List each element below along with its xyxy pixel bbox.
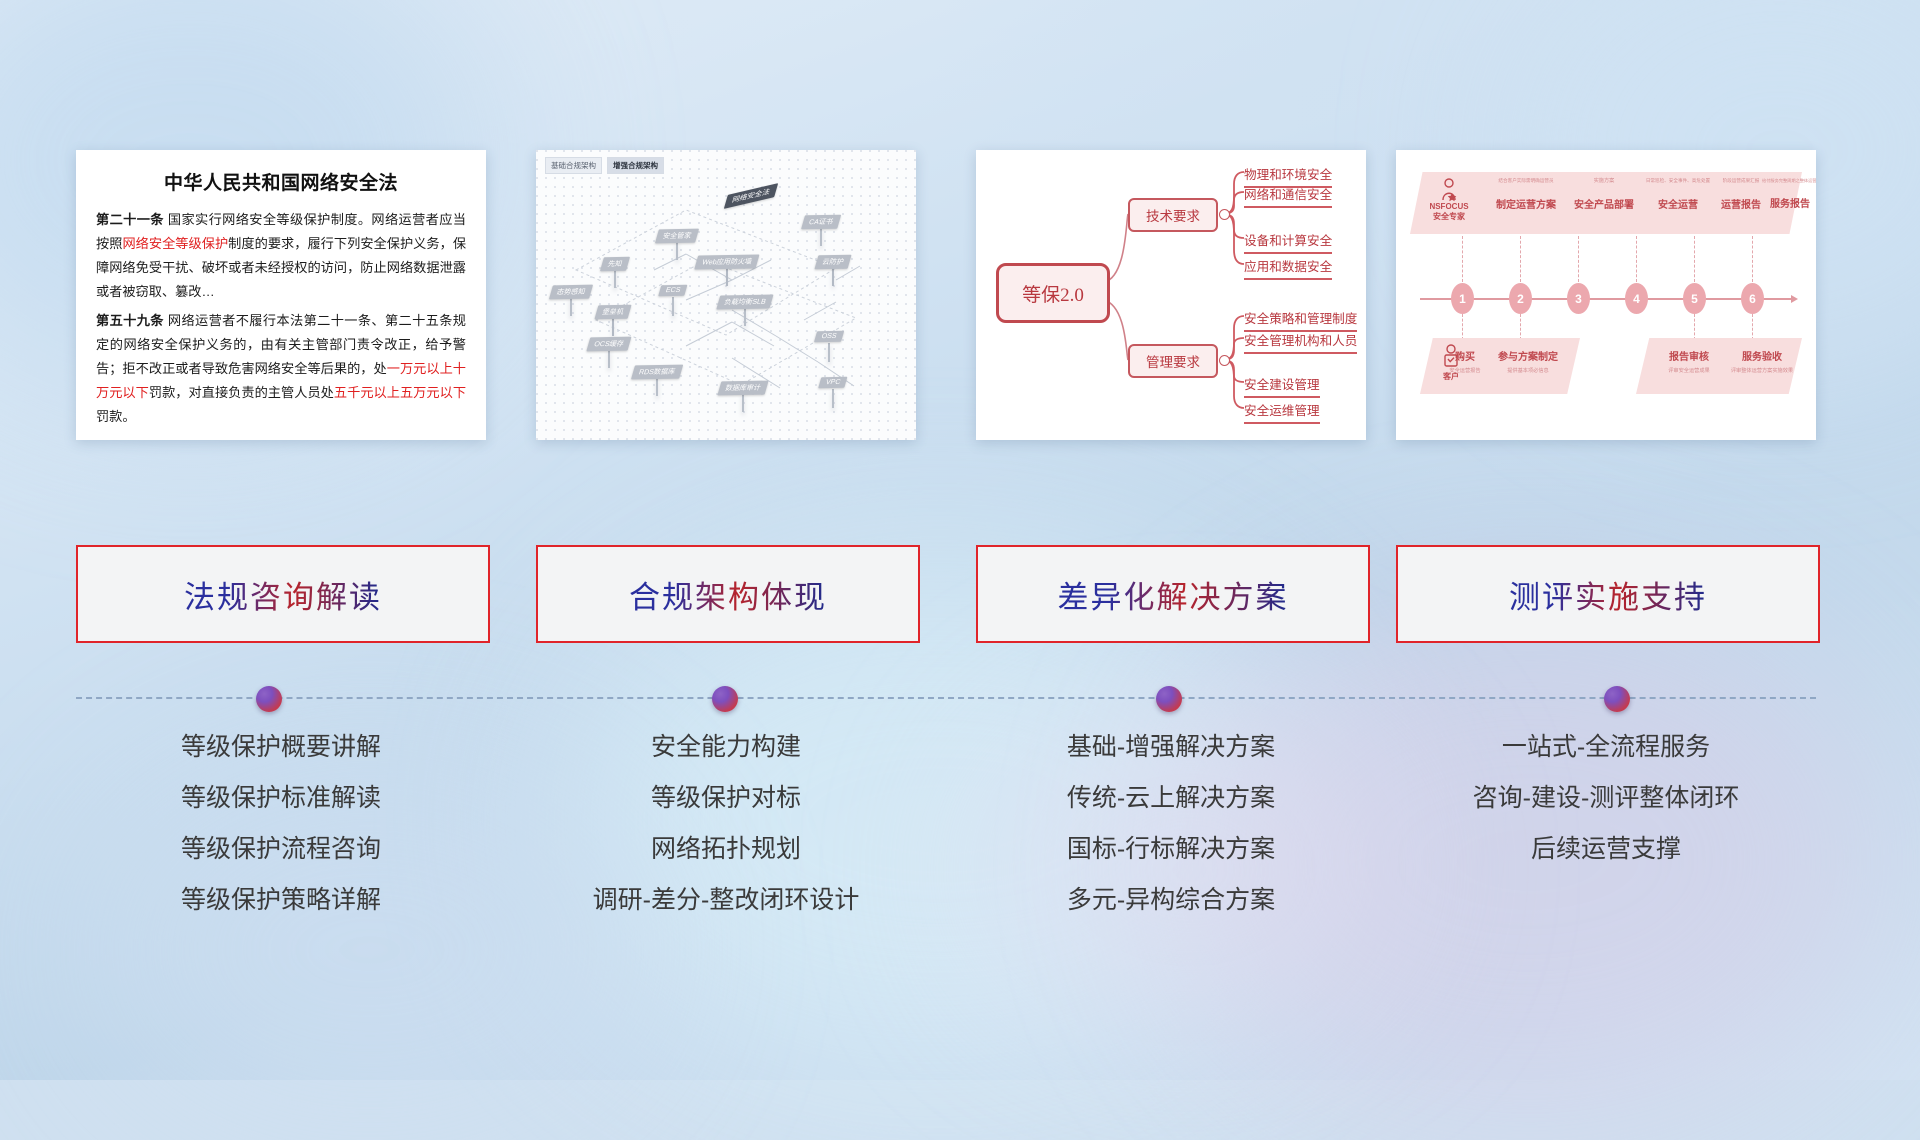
node-shape	[676, 241, 678, 260]
law-article-59-text-b: 罚款，对直接负责的主管人员处	[149, 385, 334, 400]
timeline-step-title: 参与方案制定	[1488, 348, 1568, 363]
section-items-2: 安全能力构建 等级保护对标 网络拓扑规划 调研-差分-整改闭环设计	[536, 735, 916, 939]
section-items-row: 等级保护概要讲解 等级保护标准解读 等级保护流程咨询 等级保护策略详解 安全能力…	[0, 735, 1920, 975]
node-label: 云防护	[814, 255, 851, 270]
node-shape	[832, 389, 834, 408]
node-shape	[726, 267, 728, 286]
timeline-step-sub: 评审整体运营方案实施效果	[1722, 367, 1802, 374]
mindmap-leaf: 安全策略和管理制度	[1244, 308, 1357, 332]
timeline-step-title: 服务报告	[1762, 195, 1816, 210]
mindmap-collapse-dot[interactable]	[1219, 355, 1230, 366]
timeline-top-step: 结合客户实际需明确运营员 制定运营方案	[1488, 178, 1564, 211]
list-item: 等级保护策略详解	[76, 888, 486, 913]
list-item: 调研-差分-整改闭环设计	[536, 888, 916, 913]
law-article-59-text-c: 罚款。	[96, 409, 136, 424]
mindmap-leaf: 安全管理机构和人员	[1244, 330, 1357, 354]
timeline-bottom-step: 报告审核 评审安全运营成果	[1654, 348, 1724, 374]
node-situational-awareness: 态势感知	[570, 298, 572, 316]
timeline-top-step: 给付服务完整周期之整体运营成果 服务报告	[1762, 178, 1816, 210]
timeline-top-step: 日常巡检、安全事件、高危处置 安全运营	[1640, 178, 1716, 211]
node-label: RDS数据库	[631, 365, 683, 380]
card-architecture-diagram: 基础合规架构 增强合规架构	[536, 150, 916, 440]
list-item: 咨询-建设-测评整体闭环	[1396, 786, 1816, 811]
timeline-step-title: 报告审核	[1654, 348, 1724, 363]
law-title: 中华人民共和国网络安全法	[96, 168, 466, 195]
mindmap-leaf: 安全运维管理	[1244, 400, 1320, 424]
node-label: 数据库审计	[717, 381, 768, 396]
security-expert-icon	[1438, 178, 1460, 202]
law-article-59-highlight-b: 五千元以上五万元以下	[334, 385, 466, 400]
section-title-row: 法规咨询解读 合规架构体现 差异化解决方案 测评实施支持	[0, 545, 1920, 645]
section-title-box-3[interactable]: 差异化解决方案	[976, 545, 1370, 643]
timeline-bottom-step: 购买 安全运营报告	[1442, 348, 1488, 374]
timeline-marker-3[interactable]	[1156, 686, 1182, 712]
list-item: 后续运营支撑	[1396, 837, 1816, 862]
node-label: 态势感知	[549, 285, 593, 300]
section-title-box-2[interactable]: 合规架构体现	[536, 545, 920, 643]
node-shape	[828, 343, 830, 362]
timeline-step-title: 购买	[1442, 348, 1488, 363]
timeline-step-number: 2	[1509, 283, 1532, 314]
timeline-expert-role: NSFOCUS 安全专家	[1420, 178, 1478, 222]
section-title-text: 差异化解决方案	[1058, 572, 1289, 617]
node-shape	[570, 297, 572, 316]
tab-basic-compliance[interactable]: 基础合规架构	[545, 157, 602, 174]
timeline-dashed-axis	[76, 697, 1816, 701]
node-ocs-cache: OCS缓存	[608, 350, 610, 368]
timeline-step-number: 3	[1567, 283, 1590, 314]
timeline-bottom-step: 参与方案制定 提供基本项必信息	[1488, 348, 1568, 374]
node-label: ECS	[658, 285, 688, 296]
list-item: 国标-行标解决方案	[976, 837, 1366, 862]
node-label: 安全管家	[655, 229, 699, 244]
architecture-tab-list: 基础合规架构 增强合规架构	[545, 157, 664, 174]
timeline-marker-1[interactable]	[256, 686, 282, 712]
node-shape	[744, 307, 746, 326]
node-load-balancer-slb: 负载均衡SLB	[744, 308, 746, 326]
timeline-step-title: 安全运营	[1640, 196, 1716, 211]
law-article-21-label: 第二十一条	[96, 212, 164, 227]
list-item: 传统-云上解决方案	[976, 786, 1366, 811]
card-mindmap: 等保2.0 技术要求 物理和环境安全 网络和通信安全 设备和计算安全 应用和数据…	[976, 150, 1366, 440]
mindmap-branch-management[interactable]: 管理要求	[1128, 344, 1218, 378]
list-item: 网络拓扑规划	[536, 837, 916, 862]
section-items-3: 基础-增强解决方案 传统-云上解决方案 国标-行标解决方案 多元-异构综合方案	[976, 735, 1366, 939]
section-items-4: 一站式-全流程服务 咨询-建设-测评整体闭环 后续运营支撑	[1396, 735, 1816, 888]
node-ca-certificate: CA证书	[820, 228, 822, 246]
section-title-box-1[interactable]: 法规咨询解读	[76, 545, 490, 643]
node-xianzhi: 先知	[614, 270, 616, 288]
node-shape	[612, 317, 614, 336]
timeline-connector	[1694, 236, 1696, 282]
timeline-step-sub: 日常巡检、安全事件、高危处置	[1640, 178, 1716, 184]
timeline-step-sub: 评审安全运营成果	[1654, 367, 1724, 374]
section-title-text: 法规咨询解读	[184, 572, 382, 617]
mindmap-leaf: 网络和通信安全	[1244, 184, 1332, 208]
architecture-diagram: 基础合规架构 增强合规架构	[536, 150, 916, 440]
node-bastion-host: 堡垒机	[612, 318, 614, 336]
law-article-21: 第二十一条 国家实行网络安全等级保护制度。网络运营者应当按照网络安全等级保护制度…	[96, 208, 466, 304]
list-item: 等级保护标准解读	[76, 786, 486, 811]
node-cloud-protection: 云防护	[832, 268, 834, 286]
mindmap-branch-technical[interactable]: 技术要求	[1128, 198, 1218, 232]
list-item: 安全能力构建	[536, 735, 916, 760]
list-item: 一站式-全流程服务	[1396, 735, 1816, 760]
timeline-connector	[1520, 236, 1522, 282]
timeline-bottom-step: 服务验收 评审整体运营方案实施效果	[1722, 348, 1802, 374]
node-rds-database: RDS数据库	[656, 378, 658, 396]
timeline-connector	[1578, 236, 1580, 282]
node-ecs: ECS	[672, 298, 674, 316]
tab-enhanced-compliance[interactable]: 增强合规架构	[607, 157, 664, 174]
timeline-step-number: 5	[1683, 283, 1706, 314]
timeline-step-sub: 结合客户实际需明确运营员	[1488, 178, 1564, 184]
timeline-connector	[1636, 236, 1638, 282]
section-title-text: 测评实施支持	[1509, 572, 1707, 617]
timeline-step-title: 服务验收	[1722, 348, 1802, 363]
node-shape	[656, 377, 658, 396]
law-article-21-highlight: 网络安全等级保护	[122, 236, 228, 251]
mindmap-leaf: 安全建设管理	[1244, 374, 1320, 398]
timeline-step-sub: 实施方案	[1566, 178, 1642, 184]
section-title-text: 合规架构体现	[629, 572, 827, 617]
timeline-connector	[1752, 236, 1754, 282]
mindmap-root-node[interactable]: 等保2.0	[996, 263, 1110, 323]
timeline-step-number: 4	[1625, 283, 1648, 314]
timeline-connector	[1462, 236, 1464, 282]
timeline-step-sub: 给付服务完整周期之整体运营成果	[1762, 178, 1816, 183]
timeline-top-step: 实施方案 安全产品部署	[1566, 178, 1642, 211]
card-law-document: 中华人民共和国网络安全法 第二十一条 国家实行网络安全等级保护制度。网络运营者应…	[76, 150, 486, 440]
node-label: VPC	[818, 377, 848, 388]
timeline-marker-4[interactable]	[1604, 686, 1630, 712]
timeline-step-number: 1	[1451, 283, 1474, 314]
node-shape	[820, 227, 822, 246]
timeline-step-title: 安全产品部署	[1566, 196, 1642, 211]
nsfocus-service-timeline: NSFOCUS 安全专家 结合客户实际需明确运营员 制定运营方案 实施方案 安全…	[1396, 150, 1816, 440]
node-label: Web应用防火墙	[694, 254, 760, 269]
node-vpc: VPC	[832, 390, 834, 408]
timeline-step-sub: 提供基本项必信息	[1488, 367, 1568, 374]
list-item: 等级保护对标	[536, 786, 916, 811]
timeline-step-number: 6	[1741, 283, 1764, 314]
law-article-59: 第五十九条 网络运营者不履行本法第二十一条、第二十五条规定的网络安全保护义务的，…	[96, 309, 466, 429]
timeline-step-title: 制定运营方案	[1488, 196, 1564, 211]
node-database-audit: 数据库审计	[742, 394, 744, 412]
timeline-connector	[1694, 314, 1696, 340]
law-document: 中华人民共和国网络安全法 第二十一条 国家实行网络安全等级保护制度。网络运营者应…	[76, 150, 486, 440]
node-shape	[832, 267, 834, 286]
timeline-connector	[1752, 314, 1754, 340]
mindmap-leaf: 设备和计算安全	[1244, 230, 1332, 254]
illustration-card-row: 中华人民共和国网络安全法 第二十一条 国家实行网络安全等级保护制度。网络运营者应…	[0, 150, 1920, 450]
node-oss: OSS	[828, 344, 830, 362]
node-shape	[608, 349, 610, 368]
mindmap-collapse-dot[interactable]	[1219, 209, 1230, 220]
node-label: 堡垒机	[594, 305, 631, 320]
mindmap-leaf: 应用和数据安全	[1244, 256, 1332, 280]
node-web-application-firewall: Web应用防火墙	[726, 268, 728, 286]
node-label: OSS	[814, 331, 844, 342]
node-label: 先知	[600, 257, 630, 271]
node-shape	[614, 269, 616, 288]
timeline-expert-label-1: NSFOCUS	[1420, 202, 1478, 212]
section-items-1: 等级保护概要讲解 等级保护标准解读 等级保护流程咨询 等级保护策略详解	[76, 735, 486, 939]
card-service-timeline: NSFOCUS 安全专家 结合客户实际需明确运营员 制定运营方案 实施方案 安全…	[1396, 150, 1816, 440]
slide-stage: 中华人民共和国网络安全法 第二十一条 国家实行网络安全等级保护制度。网络运营者应…	[0, 0, 1920, 1080]
list-item: 等级保护流程咨询	[76, 837, 486, 862]
node-label: OCS缓存	[586, 337, 631, 352]
timeline-connector	[1462, 314, 1464, 340]
timeline-axis	[1420, 298, 1792, 300]
timeline-connector	[1520, 314, 1522, 340]
law-article-59-label: 第五十九条	[96, 313, 164, 328]
node-shape	[742, 393, 744, 412]
timeline-expert-label-2: 安全专家	[1420, 212, 1478, 222]
list-item: 基础-增强解决方案	[976, 735, 1366, 760]
list-item: 多元-异构综合方案	[976, 888, 1366, 913]
section-title-box-4[interactable]: 测评实施支持	[1396, 545, 1820, 643]
node-security-butler: 安全管家	[676, 242, 678, 260]
node-label: CA证书	[801, 215, 841, 230]
list-item: 等级保护概要讲解	[76, 735, 486, 760]
node-label: 负载均衡SLB	[716, 295, 774, 310]
mindmap-dengbao: 等保2.0 技术要求 物理和环境安全 网络和通信安全 设备和计算安全 应用和数据…	[976, 150, 1366, 440]
timeline-step-sub: 安全运营报告	[1442, 367, 1488, 374]
node-shape	[672, 297, 674, 316]
timeline-marker-2[interactable]	[712, 686, 738, 712]
